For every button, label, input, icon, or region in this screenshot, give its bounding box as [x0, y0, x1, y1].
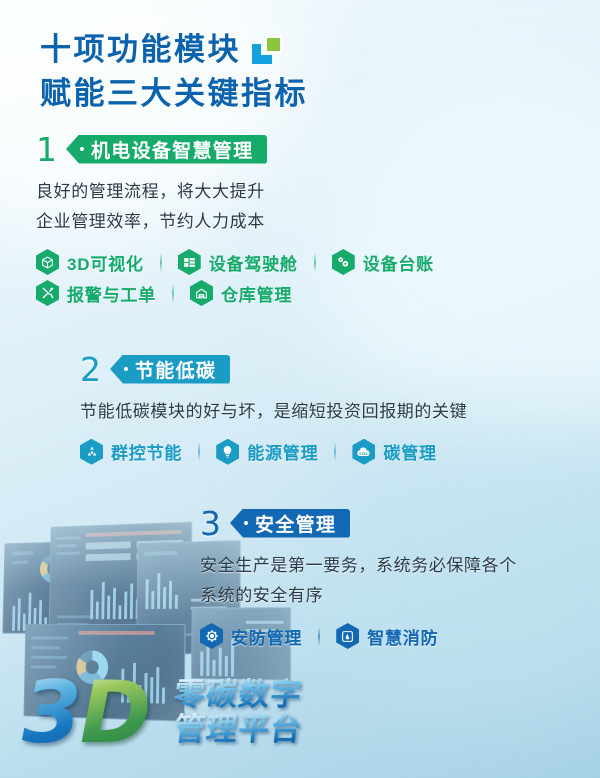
- section-header: 2节能低碳: [80, 352, 467, 386]
- feature-tag-rows: 群控节能能源管理CO2碳管理: [80, 436, 467, 467]
- warehouse-icon: [190, 280, 213, 306]
- feature-tag-label: 安防管理: [231, 624, 302, 649]
- feature-tag-rows: 3D可视化设备驾驶舱设备台账报警与工单仓库管理: [36, 247, 434, 309]
- feature-tag-label: 设备台账: [363, 250, 434, 275]
- section-1: 1机电设备智慧管理良好的管理流程，将大大提升 企业管理效率，节约人力成本3D可视…: [36, 132, 434, 309]
- recycle-icon: [80, 439, 103, 465]
- brand-square-logo-icon: [252, 36, 282, 64]
- feature-tag-row: 3D可视化设备驾驶舱设备台账: [36, 247, 434, 278]
- badge-dot-icon: [244, 521, 248, 525]
- tag-separator: [318, 627, 320, 646]
- section-3: 3安全管理安全生产是第一要务，系统务必保障各个 系统的安全有序安防管理智慧消防: [200, 506, 517, 652]
- section-title-text: 安全管理: [255, 510, 336, 537]
- security-shield-icon: [200, 623, 223, 649]
- badge-dot-icon: [124, 367, 128, 371]
- tag-separator: [334, 442, 336, 461]
- feature-tag-row: 群控节能能源管理CO2碳管理: [80, 436, 467, 467]
- feature-tag-label: 3D可视化: [67, 250, 144, 275]
- section-description: 安全生产是第一要务，系统务必保障各个 系统的安全有序: [200, 551, 517, 612]
- cube-3d-icon: [36, 249, 59, 275]
- feature-tag[interactable]: 群控节能: [80, 439, 182, 465]
- feature-tag-rows: 安防管理智慧消防: [200, 621, 517, 652]
- section-header: 3安全管理: [200, 506, 517, 540]
- section-title-text: 机电设备智慧管理: [91, 136, 253, 163]
- section-title-badge[interactable]: 节能低碳: [110, 355, 230, 384]
- feature-tag-label: 设备驾驶舱: [209, 250, 298, 275]
- footer-brand-lockup: 3D 零碳数字 管理平台: [22, 668, 352, 772]
- section-number: 2: [80, 353, 101, 386]
- feature-tag-label: 智慧消防: [367, 624, 438, 649]
- tag-separator: [198, 442, 200, 461]
- logo-green-square: [265, 36, 282, 53]
- feature-tag-row: 安防管理智慧消防: [200, 621, 517, 652]
- section-number: 3: [200, 507, 221, 540]
- feature-tag[interactable]: 设备台账: [332, 249, 434, 275]
- feature-tag-label: 仓库管理: [221, 281, 292, 306]
- feature-tag[interactable]: 设备驾驶舱: [178, 249, 298, 275]
- tag-separator: [160, 253, 162, 272]
- feature-tag[interactable]: 仓库管理: [190, 280, 292, 306]
- page-header: 十项功能模块 赋能三大关键指标: [40, 28, 308, 116]
- feature-tag-row: 报警与工单仓库管理: [36, 278, 434, 309]
- carbon-cloud-icon: CO2: [352, 439, 375, 465]
- dashboard-cockpit-icon: [178, 249, 201, 275]
- section-description: 节能低碳模块的好与坏，是缩短投资回报期的关键: [80, 397, 467, 427]
- section-title-badge[interactable]: 机电设备智慧管理: [66, 135, 267, 164]
- feature-tag-label: 碳管理: [383, 439, 436, 464]
- feature-tag[interactable]: 能源管理: [216, 439, 318, 465]
- section-title-badge[interactable]: 安全管理: [230, 509, 350, 538]
- footer-brand-name: 零碳数字 管理平台: [174, 678, 302, 747]
- section-number: 1: [36, 133, 57, 166]
- logo-3d-mark: 3D: [22, 670, 149, 756]
- feature-tag[interactable]: 安防管理: [200, 623, 302, 649]
- tag-separator: [314, 253, 316, 272]
- footer-brand-line2: 管理平台: [172, 713, 304, 748]
- feature-tag-label: 能源管理: [247, 439, 318, 464]
- section-header: 1机电设备智慧管理: [36, 132, 434, 166]
- tag-separator: [172, 284, 174, 303]
- alarm-worksheet-icon: [36, 280, 59, 306]
- lightbulb-icon: [216, 439, 239, 465]
- svg-text:CO2: CO2: [360, 452, 369, 456]
- page-title-line1: 十项功能模块: [40, 28, 241, 72]
- feature-tag[interactable]: 智慧消防: [336, 623, 438, 649]
- feature-tag-label: 报警与工单: [67, 281, 156, 306]
- feature-tag[interactable]: CO2碳管理: [352, 439, 436, 465]
- logo-char-d: D: [80, 663, 149, 763]
- feature-tag[interactable]: 报警与工单: [36, 280, 156, 306]
- page-title-line2: 赋能三大关键指标: [40, 72, 308, 116]
- feature-tag[interactable]: 3D可视化: [36, 249, 144, 275]
- feature-tag-label: 群控节能: [111, 439, 182, 464]
- section-title-text: 节能低碳: [135, 356, 216, 383]
- section-2: 2节能低碳节能低碳模块的好与坏，是缩短投资回报期的关键群控节能能源管理CO2碳管…: [80, 352, 467, 467]
- logo-char-3: 3: [22, 663, 80, 763]
- gears-ledger-icon: [332, 249, 355, 275]
- fire-safety-icon: [336, 623, 359, 649]
- footer-brand-line1: 零碳数字: [172, 678, 304, 713]
- header-line-1: 十项功能模块: [40, 28, 308, 72]
- badge-dot-icon: [80, 147, 84, 151]
- section-description: 良好的管理流程，将大大提升 企业管理效率，节约人力成本: [36, 177, 434, 238]
